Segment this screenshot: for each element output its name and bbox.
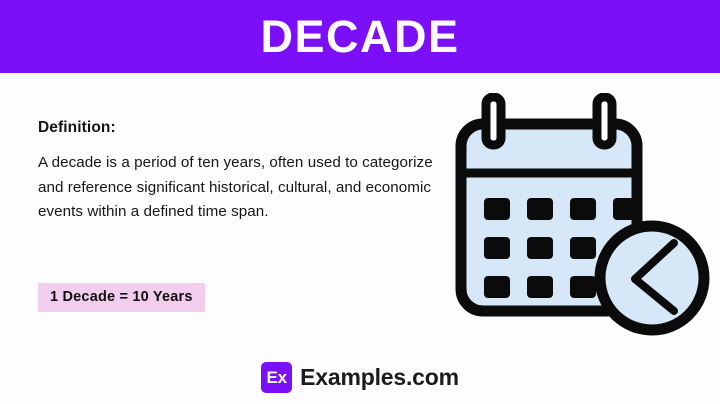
logo-mark-label: Ex (267, 369, 287, 386)
footer-brand: Ex Examples.com (0, 355, 720, 400)
definition-text: A decade is a period of ten years, often… (38, 151, 438, 225)
brand-name: Examples.com (300, 366, 459, 389)
definition-block: Definition: A decade is a period of ten … (38, 119, 438, 225)
decade-definition-card: DECADE Definition: A decade is a period … (0, 0, 720, 404)
definition-label: Definition: (38, 119, 438, 137)
clock-icon (600, 226, 704, 330)
calendar-clock-illustration (448, 93, 720, 343)
fact-badge: 1 Decade = 10 Years (38, 283, 205, 312)
examples-logo-icon: Ex (261, 362, 292, 393)
header-band: DECADE (0, 0, 720, 73)
page-title: DECADE (260, 14, 459, 59)
